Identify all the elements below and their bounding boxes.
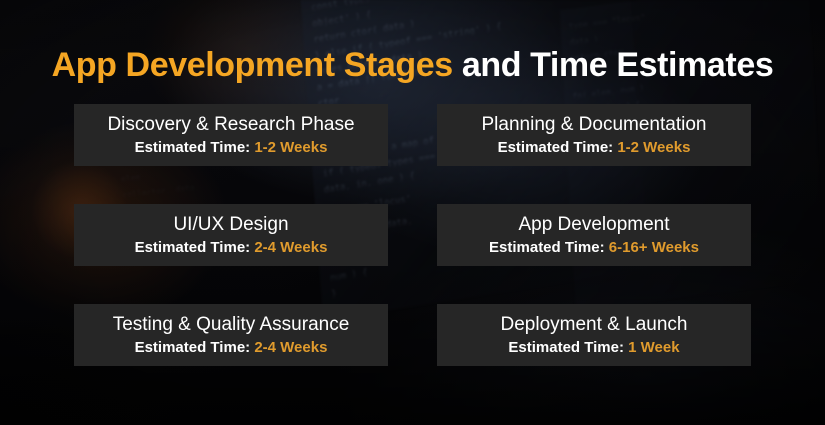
svg-text:object' ) {: object' ) { — [312, 10, 371, 29]
stage-card-title: Planning & Documentation — [482, 113, 707, 137]
stage-card-estimate: Estimated Time: 6-16+ Weeks — [489, 237, 699, 258]
stage-card-estimate: Estimated Time: 1 Week — [508, 337, 679, 358]
estimate-value: 1-2 Weeks — [254, 139, 327, 156]
estimate-label: Estimated Time: — [135, 239, 255, 256]
page-title-plain: and Time Estimates — [453, 46, 774, 84]
estimate-label: Estimated Time: — [498, 139, 618, 156]
stage-card-title: UI/UX Design — [173, 213, 288, 237]
estimate-value: 2-4 Weeks — [254, 239, 327, 256]
stage-card-planning-documentation[interactable]: Planning & Documentation Estimated Time:… — [437, 104, 751, 166]
stage-card-title: Deployment & Launch — [501, 313, 688, 337]
stage-card-grid: Discovery & Research Phase Estimated Tim… — [74, 104, 751, 366]
stage-card-estimate: Estimated Time: 1-2 Weeks — [135, 137, 328, 158]
stage-card-app-development[interactable]: App Development Estimated Time: 6-16+ We… — [437, 204, 751, 266]
svg-text:return ctor( data ): return ctor( data ) — [313, 19, 415, 45]
stage-card-discovery-research-phase[interactable]: Discovery & Research Phase Estimated Tim… — [74, 104, 388, 166]
stage-card-estimate: Estimated Time: 2-4 Weeks — [135, 237, 328, 258]
estimate-label: Estimated Time: — [135, 339, 255, 356]
estimate-label: Estimated Time: — [489, 239, 609, 256]
page-title: App Development Stages and Time Estimate… — [0, 43, 825, 87]
estimate-value: 1 Week — [628, 339, 679, 356]
stage-card-testing-quality-assurance[interactable]: Testing & Quality Assurance Estimated Ti… — [74, 304, 388, 366]
estimate-value: 2-4 Weeks — [254, 339, 327, 356]
slide-canvas: const types = { 'p' of types.handle obje… — [0, 0, 825, 425]
page-title-accent: App Development Stages — [52, 46, 453, 84]
stage-card-deployment-launch[interactable]: Deployment & Launch Estimated Time: 1 We… — [437, 304, 751, 366]
svg-text:type === "locus": type === "locus" — [569, 13, 646, 31]
stage-card-title: Testing & Quality Assurance — [113, 313, 350, 337]
estimate-label: Estimated Time: — [135, 139, 255, 156]
stage-card-title: Discovery & Research Phase — [107, 113, 354, 137]
estimate-value: 6-16+ Weeks — [609, 239, 699, 256]
stage-card-ui-ux-design[interactable]: UI/UX Design Estimated Time: 2-4 Weeks — [74, 204, 388, 266]
stage-card-estimate: Estimated Time: 2-4 Weeks — [135, 337, 328, 358]
svg-text:const types = { 'p' of types.h: const types = { 'p' of types.handle — [311, 0, 499, 13]
stage-card-estimate: Estimated Time: 1-2 Weeks — [498, 137, 691, 158]
stage-card-title: App Development — [518, 213, 669, 237]
estimate-label: Estimated Time: — [508, 339, 628, 356]
estimate-value: 1-2 Weeks — [617, 139, 690, 156]
